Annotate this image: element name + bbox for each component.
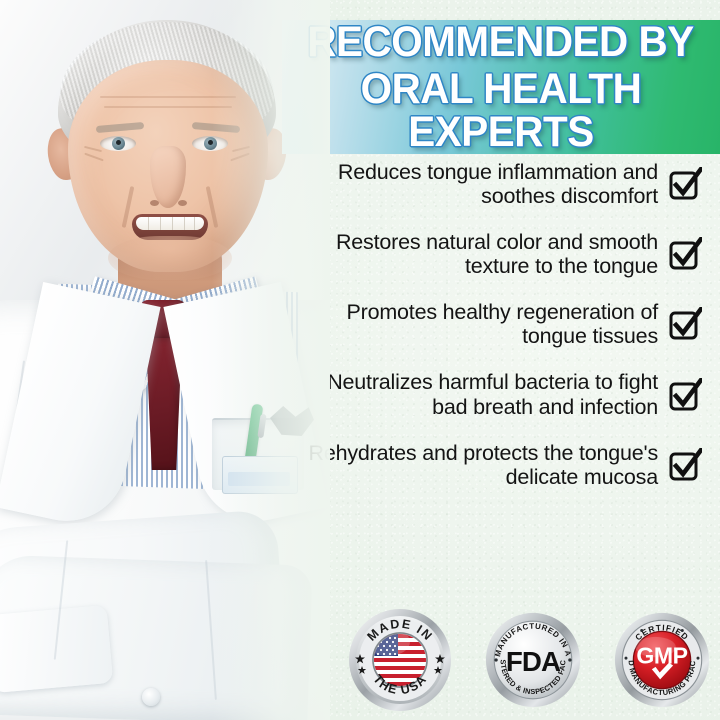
checkbox-checked-icon — [668, 307, 702, 341]
pupil — [116, 140, 121, 145]
nostril-left — [150, 200, 159, 206]
seal-made-in-usa: MADE IN THE USA — [348, 608, 452, 712]
benefit-item: Rehydrates and protects the tongue's del… — [300, 441, 702, 489]
checkbox-checked-icon — [668, 237, 702, 271]
benefit-item: Promotes healthy regeneration of tongue … — [300, 300, 702, 348]
benefit-item: Neutralizes harmful bacteria to fight ba… — [300, 370, 702, 418]
benefit-item: Reduces tongue inflammation and soothes … — [300, 160, 702, 208]
photo-fade-edge — [212, 0, 330, 720]
seal-gmp: GMP CERTIFIED GOOD MANUFACTURING PRACTIC… — [614, 612, 710, 708]
checkbox-checked-icon — [668, 167, 702, 201]
eye-left — [100, 136, 136, 151]
seal-fda-center-text: FDA — [506, 646, 561, 677]
benefit-text: Restores natural color and smooth textur… — [300, 230, 658, 278]
benefits-list: Reduces tongue inflammation and soothes … — [300, 160, 702, 489]
benefit-text: Reduces tongue inflammation and soothes … — [300, 160, 658, 208]
seal-fda: FDA MANUFACTURED IN A REGISTERED & INSPE… — [485, 612, 581, 708]
header-title-line1: RECOMMENDED BY — [308, 21, 694, 64]
benefit-text: Neutralizes harmful bacteria to fight ba… — [300, 370, 658, 418]
checkbox-checked-icon — [668, 448, 702, 482]
benefit-text: Rehydrates and protects the tongue's del… — [300, 441, 658, 489]
seal-gmp-center-text: GMP — [636, 643, 687, 669]
benefit-item: Restores natural color and smooth textur… — [300, 230, 702, 278]
promotional-banner: RECOMMENDED BY ORAL HEALTH EXPERTS Reduc… — [0, 0, 720, 720]
header-banner: RECOMMENDED BY ORAL HEALTH EXPERTS — [282, 20, 720, 154]
coat-button — [142, 688, 160, 706]
header-title-line2: ORAL HEALTH EXPERTS — [295, 68, 707, 154]
teeth — [136, 217, 204, 230]
trust-seals: MADE IN THE USA — [348, 608, 710, 712]
doctor-photo — [0, 0, 330, 720]
checkbox-checked-icon — [668, 378, 702, 412]
nostril-right — [178, 200, 187, 206]
benefit-text: Promotes healthy regeneration of tongue … — [300, 300, 658, 348]
